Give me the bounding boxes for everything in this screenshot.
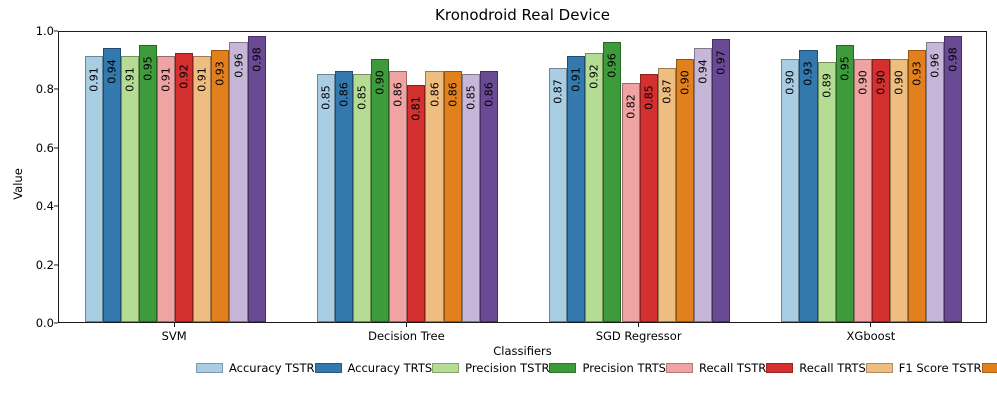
bar: 0.86	[480, 71, 498, 322]
bar-value-label: 0.91	[571, 68, 582, 93]
x-axis-tick-mark	[638, 323, 639, 327]
y-axis-tick-mark	[54, 147, 58, 148]
bar-value-label: 0.89	[821, 73, 832, 98]
bar: 0.90	[854, 59, 872, 322]
bar: 0.94	[103, 48, 121, 322]
bar-value-label: 0.86	[483, 82, 494, 107]
y-axis-tick-mark	[54, 30, 58, 31]
bar-value-label: 0.85	[465, 85, 476, 110]
bar-value-label: 0.97	[716, 50, 727, 75]
bar: 0.92	[585, 53, 603, 322]
legend-swatch-icon	[196, 363, 223, 373]
bar: 0.90	[676, 59, 694, 322]
page-title: Kronodroid Real Device	[58, 6, 987, 24]
bar-value-label: 0.85	[357, 85, 368, 110]
bar: 0.93	[908, 50, 926, 322]
bar: 0.91	[567, 56, 585, 322]
bar: 0.94	[694, 48, 712, 322]
y-axis-tick-label: 0.8	[0, 82, 54, 96]
figure-canvas: Kronodroid Real Device Value 0.910.850.8…	[0, 0, 997, 415]
bar: 0.91	[85, 56, 103, 322]
bar: 0.96	[603, 42, 621, 322]
x-axis-tick-label: SGD Regressor	[596, 329, 682, 343]
bars-layer: 0.910.850.870.900.940.860.910.930.910.85…	[59, 32, 986, 322]
bar-value-label: 0.92	[179, 65, 190, 90]
bar-value-label: 0.95	[142, 56, 153, 81]
bar: 0.82	[622, 83, 640, 322]
bar: 0.90	[872, 59, 890, 322]
bar: 0.90	[890, 59, 908, 322]
bar: 0.86	[389, 71, 407, 322]
bar-value-label: 0.96	[607, 53, 618, 78]
bar-value-label: 0.93	[912, 62, 923, 87]
legend-item: Accuracy TSTR	[196, 359, 315, 377]
bar: 0.92	[175, 53, 193, 322]
legend-item: Recall TSTR	[666, 359, 766, 377]
legend-swatch-icon	[432, 363, 459, 373]
bar: 0.95	[836, 45, 854, 322]
legend-label: Precision TRTS	[582, 361, 665, 375]
x-axis-label: Classifiers	[58, 344, 987, 358]
plot-area: 0.910.850.870.900.940.860.910.930.910.85…	[58, 31, 987, 323]
legend-swatch-icon	[549, 363, 576, 373]
y-axis-tick-mark	[54, 322, 58, 323]
y-axis-tick-label: 1.0	[0, 24, 54, 38]
legend-item: Precision TSTR	[432, 359, 549, 377]
bar: 0.85	[317, 74, 335, 322]
y-axis-tick-label: 0.2	[0, 258, 54, 272]
bar: 0.96	[926, 42, 944, 322]
x-axis-tick-label: SVM	[162, 329, 187, 343]
bar: 0.87	[549, 68, 567, 322]
x-axis-tick-mark	[870, 323, 871, 327]
bar: 0.95	[139, 45, 157, 322]
legend-item: Accuracy TRTS	[315, 359, 433, 377]
bar-value-label: 0.90	[679, 70, 690, 95]
bar: 0.87	[658, 68, 676, 322]
bar-value-label: 0.98	[251, 47, 262, 72]
bar-value-label: 0.93	[215, 62, 226, 87]
y-axis-tick-label: 0.0	[0, 316, 54, 330]
legend-item: F1 Score TRTS	[982, 359, 997, 377]
bar: 0.86	[335, 71, 353, 322]
legend-label: Precision TSTR	[465, 361, 549, 375]
bar-value-label: 0.86	[447, 82, 458, 107]
bar-value-label: 0.87	[661, 79, 672, 104]
bar: 0.86	[444, 71, 462, 322]
bar-value-label: 0.90	[375, 70, 386, 95]
bar-value-label: 0.91	[161, 68, 172, 93]
bar: 0.90	[371, 59, 389, 322]
legend: Accuracy TSTRAccuracy TRTSPrecision TSTR…	[196, 359, 864, 401]
bar-value-label: 0.92	[589, 65, 600, 90]
y-axis-tick-mark	[54, 206, 58, 207]
legend-label: F1 Score TSTR	[899, 361, 982, 375]
bar-value-label: 0.90	[894, 70, 905, 95]
legend-swatch-icon	[315, 363, 342, 373]
bar: 0.93	[211, 50, 229, 322]
x-axis-tick-mark	[406, 323, 407, 327]
bar: 0.98	[944, 36, 962, 322]
bar-value-label: 0.96	[233, 53, 244, 78]
legend-label: Recall TRTS	[799, 361, 865, 375]
x-axis-tick-label: Decision Tree	[368, 329, 445, 343]
bar-value-label: 0.95	[839, 56, 850, 81]
bar: 0.91	[193, 56, 211, 322]
bar: 0.98	[248, 36, 266, 322]
legend-swatch-icon	[666, 363, 693, 373]
legend-item: Precision TRTS	[549, 359, 665, 377]
bar-value-label: 0.85	[643, 85, 654, 110]
bar: 0.91	[157, 56, 175, 322]
y-axis-tick-label: 0.6	[0, 141, 54, 155]
bar-value-label: 0.93	[803, 62, 814, 87]
y-axis-tick-label: 0.4	[0, 199, 54, 213]
bar-value-label: 0.96	[930, 53, 941, 78]
bar-value-label: 0.98	[948, 47, 959, 72]
y-axis-tick-mark	[54, 264, 58, 265]
bar: 0.85	[462, 74, 480, 322]
bar-value-label: 0.85	[320, 85, 331, 110]
bar: 0.81	[407, 85, 425, 322]
bar-value-label: 0.91	[88, 68, 99, 93]
legend-label: Recall TSTR	[699, 361, 766, 375]
legend-label: Accuracy TRTS	[348, 361, 433, 375]
bar-value-label: 0.91	[197, 68, 208, 93]
y-axis-tick-mark	[54, 89, 58, 90]
bar-value-label: 0.86	[429, 82, 440, 107]
legend-item: Recall TRTS	[766, 359, 865, 377]
legend-swatch-icon	[766, 363, 793, 373]
bar: 0.90	[781, 59, 799, 322]
legend-label: Accuracy TSTR	[229, 361, 315, 375]
bar-value-label: 0.90	[785, 70, 796, 95]
bar-value-label: 0.94	[698, 59, 709, 84]
bar-value-label: 0.86	[338, 82, 349, 107]
bar: 0.93	[799, 50, 817, 322]
bar: 0.85	[640, 74, 658, 322]
bar-value-label: 0.87	[553, 79, 564, 104]
bar-value-label: 0.91	[124, 68, 135, 93]
bar: 0.96	[229, 42, 247, 322]
x-axis-tick-label: XGboost	[847, 329, 896, 343]
x-axis-tick-mark	[174, 323, 175, 327]
bar-value-label: 0.86	[393, 82, 404, 107]
legend-swatch-icon	[866, 363, 893, 373]
bar-value-label: 0.90	[875, 70, 886, 95]
bar-value-label: 0.94	[106, 59, 117, 84]
bar: 0.97	[712, 39, 730, 322]
legend-item: F1 Score TSTR	[866, 359, 982, 377]
bar-value-label: 0.82	[625, 94, 636, 119]
bar: 0.86	[425, 71, 443, 322]
bar-value-label: 0.81	[411, 97, 422, 122]
bar: 0.89	[818, 62, 836, 322]
bar-value-label: 0.90	[857, 70, 868, 95]
legend-swatch-icon	[982, 363, 997, 373]
bar: 0.85	[353, 74, 371, 322]
bar: 0.91	[121, 56, 139, 322]
